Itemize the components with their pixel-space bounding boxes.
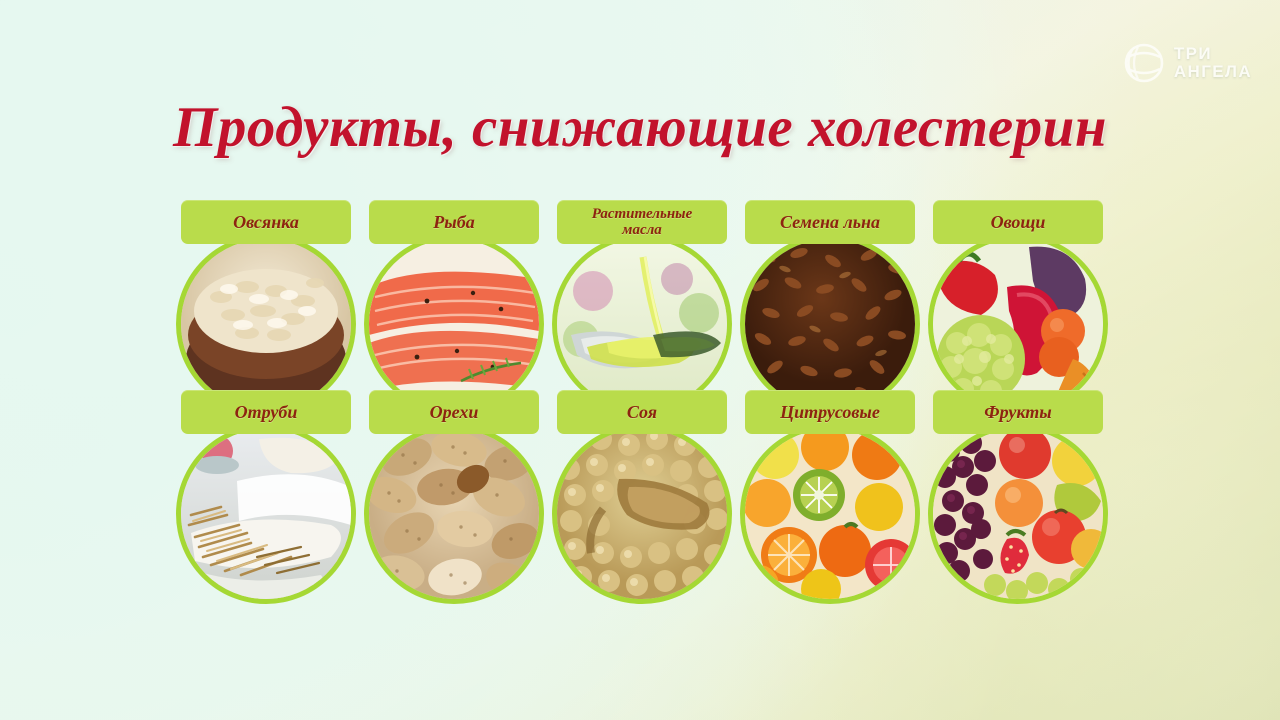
product-cell[interactable]: Овсянка — [172, 200, 360, 390]
product-label-text: Рыба — [429, 213, 478, 232]
oatmeal-photo — [181, 239, 351, 409]
product-cell[interactable]: Орехи — [360, 390, 548, 580]
product-label-text: Овсянка — [229, 213, 303, 232]
flax-seeds-photo — [745, 239, 915, 409]
product-ring — [176, 424, 356, 604]
product-ring — [176, 234, 356, 414]
product-cell[interactable]: Растительные масла — [548, 200, 736, 390]
product-label-badge: Овощи — [933, 200, 1103, 244]
product-label-text: Орехи — [426, 403, 483, 422]
product-cell[interactable]: Рыба — [360, 200, 548, 390]
product-label-text: Овощи — [987, 213, 1050, 232]
globe-swirl-icon — [1123, 42, 1165, 84]
product-label-text: Растительные масла — [588, 206, 696, 238]
product-label-badge: Рыба — [369, 200, 539, 244]
product-label-badge: Семена льна — [745, 200, 915, 244]
fruits-photo — [933, 429, 1103, 599]
product-cell[interactable]: Цитрусовые — [736, 390, 924, 580]
product-ring — [552, 424, 732, 604]
product-label-badge: Фрукты — [933, 390, 1103, 434]
product-ring — [740, 424, 920, 604]
vegetables-photo — [933, 239, 1103, 409]
product-ring — [364, 424, 544, 604]
product-cell[interactable]: Семена льна — [736, 200, 924, 390]
product-label-badge: Отруби — [181, 390, 351, 434]
bran-photo — [181, 429, 351, 599]
brand-logo: ТРИ АНГЕЛА — [1123, 42, 1252, 84]
brand-name: ТРИ АНГЕЛА — [1174, 45, 1252, 81]
nuts-photo — [369, 429, 539, 599]
product-ring — [364, 234, 544, 414]
product-label-text: Соя — [623, 403, 661, 422]
product-label-badge: Растительные масла — [557, 200, 727, 244]
product-cell[interactable]: Отруби — [172, 390, 360, 580]
product-cell[interactable]: Овощи — [924, 200, 1112, 390]
vegetable-oil-photo — [557, 239, 727, 409]
slide-canvas: ТРИ АНГЕЛА Продукты, снижающие холестери… — [0, 0, 1280, 720]
citrus-photo — [745, 429, 915, 599]
product-label-text: Фрукты — [980, 403, 1055, 422]
page-title: Продукты, снижающие холестерин — [0, 96, 1280, 160]
product-label-badge: Овсянка — [181, 200, 351, 244]
product-label-badge: Орехи — [369, 390, 539, 434]
salmon-fillet-photo — [369, 239, 539, 409]
product-cell[interactable]: Фрукты — [924, 390, 1112, 580]
soybeans-photo — [557, 429, 727, 599]
product-cell[interactable]: Соя — [548, 390, 736, 580]
product-ring — [928, 424, 1108, 604]
brand-line-2: АНГЕЛА — [1174, 62, 1252, 81]
product-label-badge: Соя — [557, 390, 727, 434]
product-label-badge: Цитрусовые — [745, 390, 915, 434]
product-label-text: Отруби — [231, 403, 302, 422]
product-label-text: Цитрусовые — [776, 403, 884, 422]
product-ring — [928, 234, 1108, 414]
product-ring — [740, 234, 920, 414]
product-label-text: Семена льна — [776, 213, 884, 232]
product-grid: Овсянка Рыба Расти — [172, 200, 1112, 580]
brand-line-1: ТРИ — [1174, 44, 1212, 63]
product-ring — [552, 234, 732, 414]
